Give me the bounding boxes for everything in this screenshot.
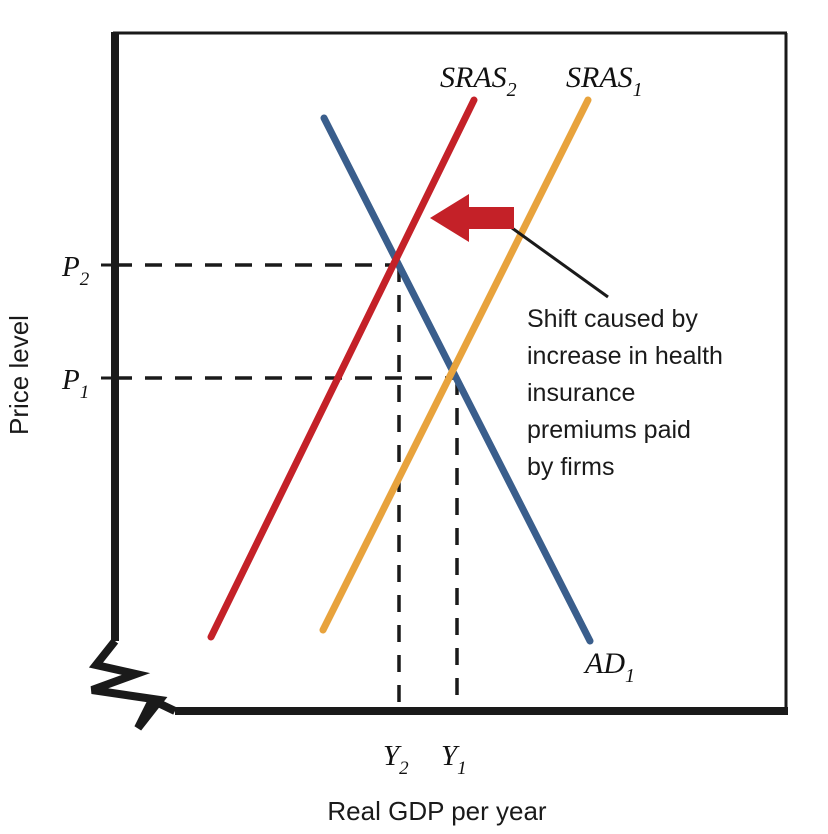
- annotation-line-2: increase in health: [527, 342, 723, 370]
- annotation-line-5: by firms: [527, 453, 615, 481]
- annotation-line-1: Shift caused by: [527, 305, 698, 333]
- aggregate-supply-demand-figure: SRAS2 SRAS1 AD1 P2 P1 Y2 Y1 Shift caused…: [0, 0, 828, 834]
- x-axis-title: Real GDP per year: [327, 796, 547, 826]
- y-axis-title: Price level: [4, 315, 34, 435]
- annotation-line-4: premiums paid: [527, 416, 691, 444]
- chart-canvas: SRAS2 SRAS1 AD1 P2 P1 Y2 Y1 Shift caused…: [0, 0, 828, 834]
- annotation-line-3: insurance: [527, 379, 635, 407]
